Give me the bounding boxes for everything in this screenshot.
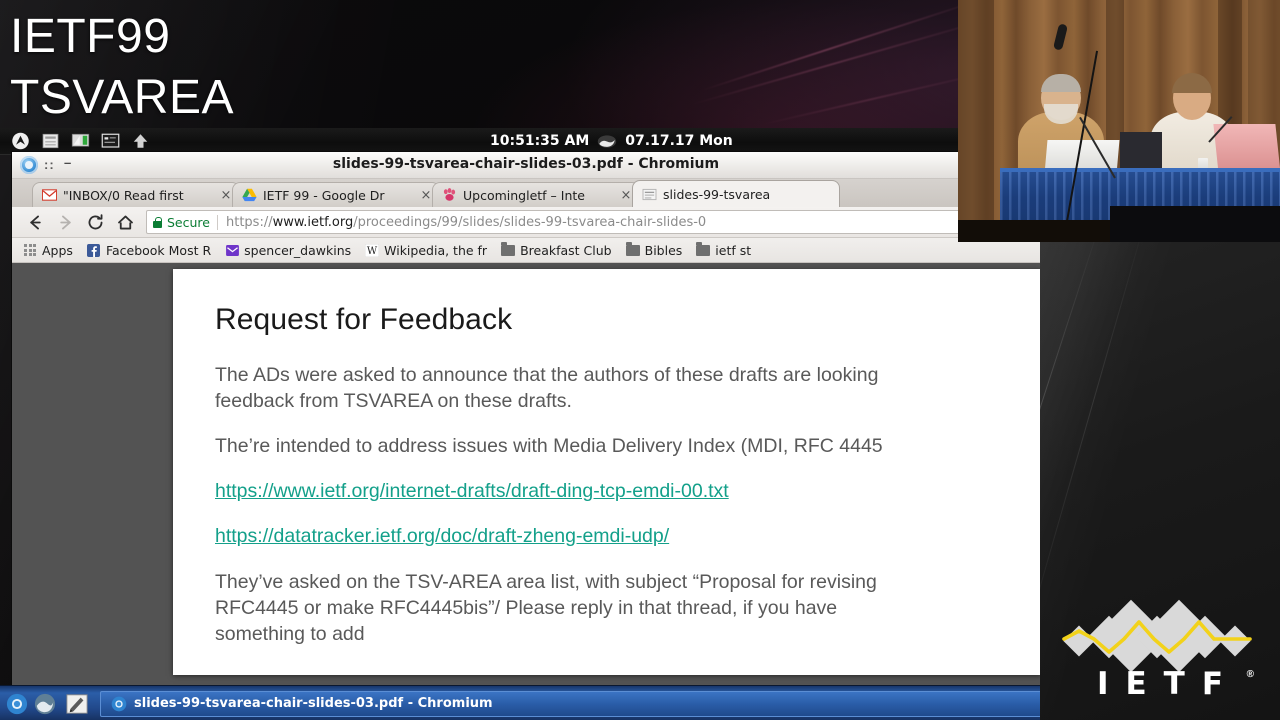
bookmark-label: Apps	[42, 243, 73, 258]
wikipedia-icon: W	[365, 243, 379, 257]
tab-close-icon[interactable]: ×	[219, 189, 233, 202]
bookmark-label: Facebook Most R	[106, 243, 211, 258]
video-foreground-object	[1110, 206, 1280, 242]
bookmark-label: Bibles	[645, 243, 683, 258]
bookmark-facebook[interactable]: Facebook Most R	[80, 240, 218, 260]
slide-paragraph-2: The’re intended to address issues with M…	[215, 434, 1013, 460]
up-arrow-icon[interactable]	[130, 132, 151, 150]
app-menu-icon[interactable]	[10, 132, 31, 150]
address-bar[interactable]: Secure https://www.ietf.org/proceedings/…	[146, 210, 1032, 234]
desktop-top-panel[interactable]: 10:51:35 AM 07.17.17 Mon	[0, 128, 958, 155]
panel-launcher-icons	[0, 132, 151, 150]
home-icon[interactable]	[110, 209, 140, 235]
apps-grid-icon	[23, 243, 37, 257]
ietf-logo: IETF ®	[1060, 596, 1260, 706]
url-path: /proceedings/99/slides/slides-99-tsvarea…	[353, 215, 706, 230]
tab-label: Upcomingletf – Inte	[463, 188, 619, 203]
bookmark-bibles[interactable]: Bibles	[619, 240, 690, 260]
browser-tab-upcoming-ietf[interactable]: Upcomingletf – Inte ×	[432, 182, 640, 207]
bookmark-label: Wikipedia, the fr	[384, 243, 487, 258]
url-text: https://www.ietf.org/proceedings/99/slid…	[226, 215, 706, 230]
bookmark-spencer-dawkins[interactable]: spencer_dawkins	[218, 240, 358, 260]
bookmark-ietf[interactable]: ietf st	[689, 240, 758, 260]
editor-icon[interactable]	[66, 693, 88, 715]
registered-mark: ®	[1247, 669, 1254, 680]
monitor-icon[interactable]	[70, 132, 91, 150]
clock-date: 07.17.17 Mon	[625, 133, 732, 149]
slide-title: Request for Feedback	[215, 303, 1013, 337]
forward-arrow-icon[interactable]	[50, 209, 80, 235]
bookmark-wikipedia[interactable]: W Wikipedia, the fr	[358, 240, 494, 260]
taskbar-window-label: slides-99-tsvarea-chair-slides-03.pdf - …	[134, 696, 493, 711]
desktop-taskbar: slides-99-tsvarea-chair-slides-03.pdf - …	[0, 685, 1046, 720]
live-video-feed[interactable]	[958, 0, 1280, 242]
google-drive-icon	[242, 188, 257, 203]
laptop-screen	[1213, 124, 1280, 174]
overlay-title-line1: IETF99	[10, 6, 234, 67]
url-scheme: https	[226, 215, 259, 230]
overlay-title-line2: TSVAREA	[10, 67, 234, 128]
back-arrow-icon[interactable]	[20, 209, 50, 235]
slide-link-draft-ding[interactable]: https://www.ietf.org/internet-drafts/dra…	[215, 480, 1013, 503]
ietf-logo-text: IETF	[1060, 666, 1260, 702]
url-separator: ://	[259, 215, 272, 230]
pdf-viewer[interactable]: Request for Feedback The ADs were asked …	[12, 263, 1040, 685]
bookmark-apps[interactable]: Apps	[16, 240, 80, 260]
slide-link-draft-zheng[interactable]: https://datatracker.ietf.org/doc/draft-z…	[215, 525, 1013, 548]
chromium-icon[interactable]	[6, 693, 28, 715]
tab-label: IETF 99 - Google Dr	[263, 188, 419, 203]
background-streak	[700, 0, 986, 92]
video-wall-panel	[958, 0, 994, 242]
folder-icon	[626, 243, 640, 257]
browser-toolbar: Secure https://www.ietf.org/proceedings/…	[12, 207, 1040, 238]
bookmarks-bar: Apps Facebook Most R spe	[12, 238, 1040, 263]
pdf-icon	[642, 187, 657, 202]
panel-clock-area[interactable]: 10:51:35 AM 07.17.17 Mon	[490, 128, 733, 154]
browser-tab-gmail[interactable]: "INBOX/0 Read first ×	[32, 182, 240, 207]
url-host: www.ietf.org	[273, 215, 354, 230]
desktop-overlay-title: IETF99 TSVAREA	[10, 6, 234, 129]
omnibox-divider	[217, 215, 218, 230]
paragraph-1-line-1: The ADs were asked to announce that the …	[215, 364, 878, 386]
panel-light-streak	[1040, 282, 1051, 720]
slide-paragraph-3: They’ve asked on the TSV-AREA area list,…	[215, 570, 1013, 647]
weather-cloud-icon[interactable]	[597, 134, 617, 149]
paragraph-3-line-2: RFC4445 or make RFC4445bis”/ Please repl…	[215, 597, 837, 619]
bookmark-label: ietf st	[715, 243, 751, 258]
chromium-icon	[111, 696, 127, 712]
svg-text:W: W	[367, 246, 378, 257]
tab-label: slides-99-tsvarea	[663, 187, 833, 202]
browser-tab-pdf-active[interactable]: slides-99-tsvarea	[632, 180, 840, 207]
window-title: slides-99-tsvarea-chair-slides-03.pdf - …	[12, 156, 1040, 172]
paragraph-3-line-1: They’ve asked on the TSV-AREA area list,…	[215, 571, 877, 593]
tab-strip: "INBOX/0 Read first × IETF 99 - Google D…	[12, 179, 1040, 207]
bookmark-label: Breakfast Club	[520, 243, 612, 258]
tab-close-icon[interactable]: ×	[419, 189, 433, 202]
ietf-diamond-mark-icon	[1060, 596, 1260, 676]
slide-paragraph-1: The ADs were asked to announce that the …	[215, 363, 1013, 414]
tab-close-icon[interactable]: ×	[619, 189, 633, 202]
terminal-icon[interactable]	[100, 132, 121, 150]
browser-tab-google-drive[interactable]: IETF 99 - Google Dr ×	[232, 182, 440, 207]
paw-icon	[442, 188, 457, 203]
gmail-icon	[42, 188, 57, 203]
security-label: Secure	[167, 215, 210, 230]
screen-root: IETF99 TSVAREA	[0, 0, 1280, 720]
pdf-page: Request for Feedback The ADs were asked …	[173, 269, 1040, 675]
window-titlebar[interactable]: :: – slides-99-tsvarea-chair-slides-03.p…	[12, 152, 1040, 179]
paragraph-1-line-2: feedback from TSVAREA on these drafts.	[215, 390, 572, 412]
mail-icon	[225, 243, 239, 257]
bookmark-label: spencer_dawkins	[244, 243, 351, 258]
browser-icon[interactable]	[34, 693, 56, 715]
lock-icon	[153, 217, 162, 228]
files-icon[interactable]	[40, 132, 61, 150]
bookmark-breakfast-club[interactable]: Breakfast Club	[494, 240, 619, 260]
paragraph-3-line-3: something to add	[215, 623, 365, 645]
reload-icon[interactable]	[80, 209, 110, 235]
chromium-window: :: – slides-99-tsvarea-chair-slides-03.p…	[12, 152, 1040, 685]
facebook-icon	[87, 243, 101, 257]
clock-time: 10:51:35 AM	[490, 133, 589, 149]
taskbar-window-button[interactable]: slides-99-tsvarea-chair-slides-03.pdf - …	[100, 691, 1046, 717]
folder-icon	[501, 243, 515, 257]
tab-label: "INBOX/0 Read first	[63, 188, 219, 203]
folder-icon	[696, 243, 710, 257]
